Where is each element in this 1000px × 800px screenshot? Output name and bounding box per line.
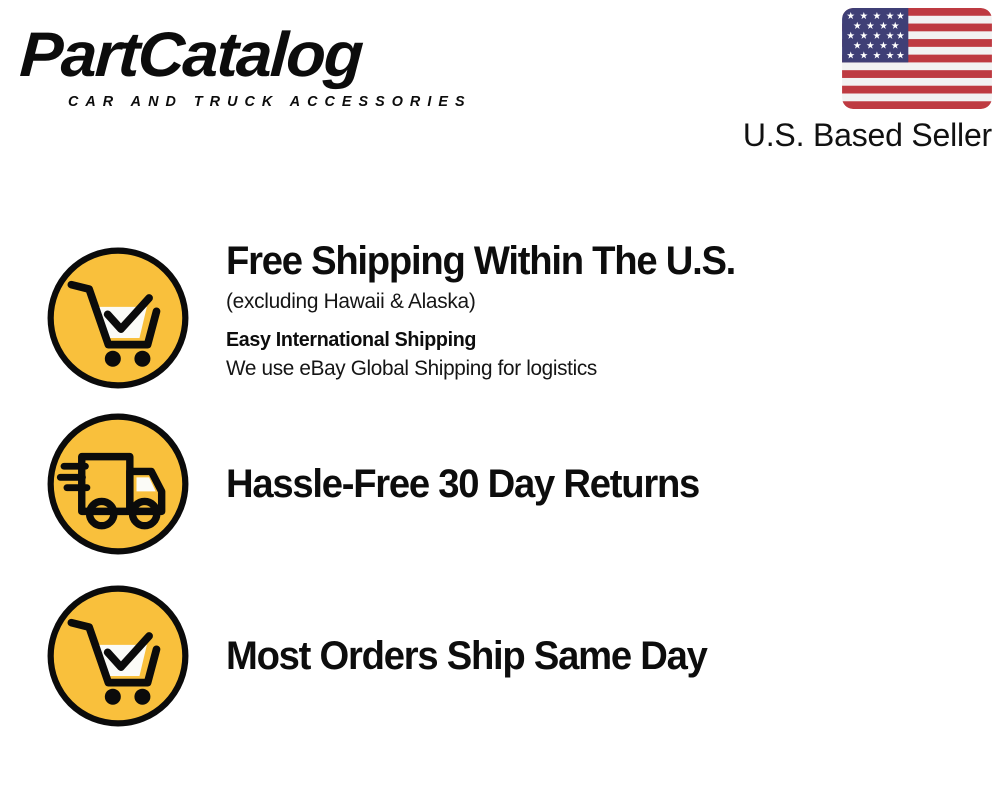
feature-title: Hassle-Free 30 Day Returns	[226, 461, 950, 507]
us-based-seller-label: U.S. Based Seller	[722, 117, 992, 153]
feature-icon-sameday	[44, 582, 192, 730]
delivery-truck-icon	[44, 410, 192, 558]
feature-secondary-title: Easy International Shipping	[226, 327, 954, 353]
feature-title: Most Orders Ship Same Day	[226, 633, 950, 679]
brand-logo[interactable]: PartCatalog CAR AND TRUCK ACCESSORIES	[22, 18, 492, 118]
shopping-cart-check-icon	[44, 244, 192, 392]
us-flag-icon	[842, 8, 992, 109]
feature-title: Free Shipping Within The U.S.	[226, 238, 950, 284]
feature-text-shipping: Free Shipping Within The U.S. (excluding…	[226, 238, 1000, 383]
feature-list: Free Shipping Within The U.S. (excluding…	[0, 238, 1000, 730]
feature-icon-shipping	[44, 244, 192, 392]
feature-row: Most Orders Ship Same Day	[0, 582, 1000, 730]
feature-text-returns: Hassle-Free 30 Day Returns	[226, 461, 1000, 507]
feature-row: Hassle-Free 30 Day Returns	[0, 410, 1000, 558]
us-based-seller-badge: U.S. Based Seller	[722, 8, 992, 153]
feature-secondary-subtitle: We use eBay Global Shipping for logistic…	[226, 354, 957, 383]
brand-wordmark: PartCatalog	[18, 18, 506, 92]
feature-icon-returns	[44, 410, 192, 558]
feature-row: Free Shipping Within The U.S. (excluding…	[0, 238, 1000, 398]
feature-text-sameday: Most Orders Ship Same Day	[226, 633, 1000, 679]
brand-tagline: CAR AND TRUCK ACCESSORIES	[68, 94, 472, 110]
shopping-cart-check-icon	[44, 582, 192, 730]
page-header: PartCatalog CAR AND TRUCK ACCESSORIES	[0, 0, 1000, 175]
feature-subtitle: (excluding Hawaii & Alaska)	[226, 287, 961, 315]
